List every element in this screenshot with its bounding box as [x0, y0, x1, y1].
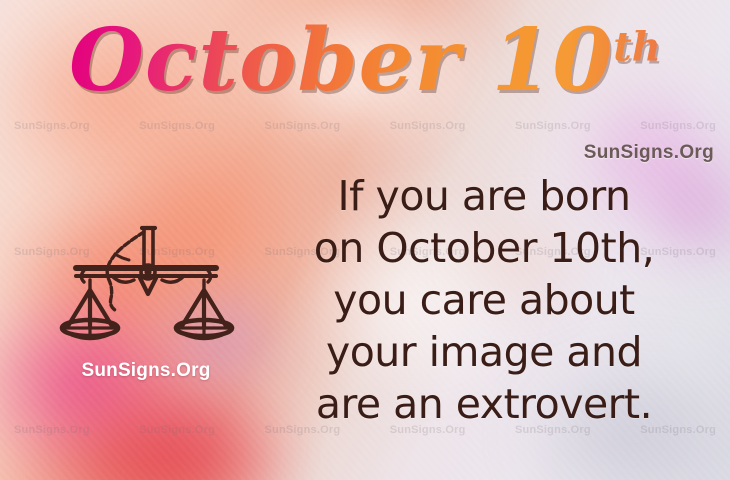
brand-wordmark-top-right: SunSigns.Org: [584, 142, 714, 164]
description-line: your image and: [268, 326, 700, 378]
description-line: on October 10th,: [268, 222, 700, 274]
description-line: are an extrovert.: [268, 378, 700, 430]
libra-scales-icon: [56, 218, 236, 360]
horoscope-description: If you are born on October 10th, you car…: [268, 170, 700, 430]
zodiac-logo: SunSigns.Org: [56, 218, 236, 388]
description-line: you care about: [268, 274, 700, 326]
horoscope-card: SunSigns.Org SunSigns.Org SunSigns.Org S…: [0, 0, 730, 480]
description-line: If you are born: [268, 170, 700, 222]
logo-caption: SunSigns.Org: [56, 360, 236, 382]
